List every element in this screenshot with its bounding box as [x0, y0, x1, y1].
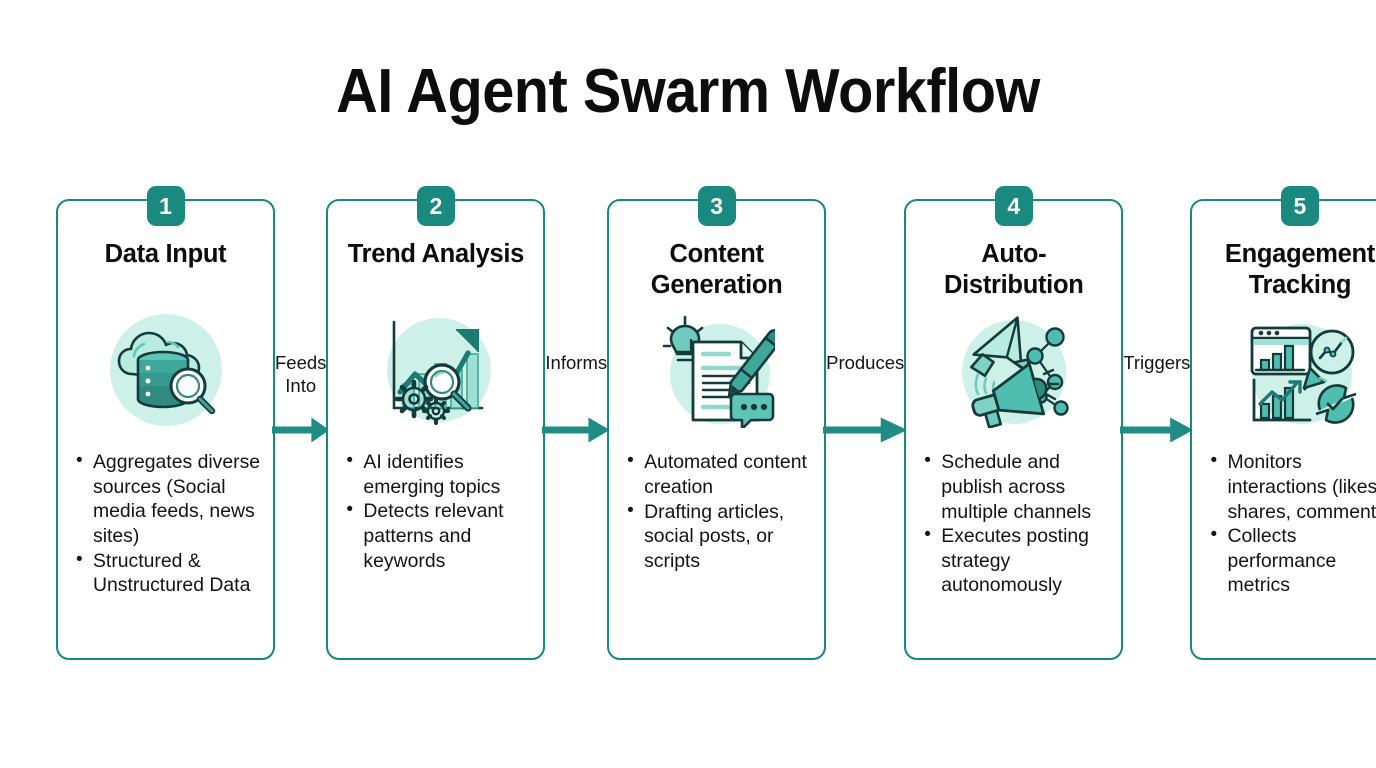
list-item: Detects relevant patterns and keywords	[344, 499, 532, 573]
workflow-diagram: AI Agent Swarm Workflow 1 Data Input	[0, 0, 1376, 768]
list-item: Structured & Unstructured Data	[74, 549, 262, 598]
step-title: Trend Analysis	[348, 239, 524, 301]
list-item: Automated content creation	[625, 450, 813, 499]
step-bullet-list: Aggregates diverse sources (Social media…	[67, 450, 264, 598]
list-item: Monitors interactions (likes, shares, co…	[1208, 450, 1376, 524]
trend-chart-magnifier-gears-icon	[378, 312, 494, 428]
connector-label: Feeds Into	[275, 199, 326, 398]
workflow-steps-row: 1 Data Input	[56, 199, 1321, 660]
step-card-3[interactable]: 3 Content Generation	[607, 199, 826, 660]
step-title: Auto-Distribution	[915, 239, 1112, 301]
page-title: AI Agent Swarm Workflow	[48, 56, 1328, 127]
step-bullet-list: AI identifies emerging topics Detects re…	[337, 450, 534, 573]
connector-label: Informs	[545, 199, 607, 374]
paperplane-megaphone-network-icon	[956, 312, 1072, 428]
connector-1: Feeds Into	[275, 199, 326, 660]
list-item: Executes posting strategy autonomously	[922, 524, 1110, 598]
list-item: Collects performance metrics	[1208, 524, 1376, 598]
step-number-badge: 4	[995, 186, 1033, 226]
step-title: Engagement Tracking	[1201, 239, 1376, 301]
step-bullet-list: Monitors interactions (likes, shares, co…	[1201, 450, 1376, 598]
cloud-database-search-icon	[108, 312, 224, 428]
step-card-1[interactable]: 1 Data Input	[56, 199, 275, 660]
step-title: Data Input	[105, 239, 227, 301]
step-title: Content Generation	[618, 239, 815, 301]
step-card-4[interactable]: 4 Auto-Distribution	[904, 199, 1123, 660]
step-number-badge: 5	[1281, 186, 1319, 226]
step-card-5[interactable]: 5 Engagement Tracking	[1190, 199, 1376, 660]
step-number-badge: 1	[147, 186, 185, 226]
connector-2: Informs	[545, 199, 607, 660]
connector-4: Triggers	[1123, 199, 1190, 660]
arrow-right-icon	[823, 413, 907, 447]
connector-label: Produces	[826, 199, 904, 374]
arrow-right-icon	[542, 413, 610, 447]
dashboard-analytics-refresh-icon	[1242, 312, 1358, 428]
step-number-badge: 3	[698, 186, 736, 226]
list-item: Aggregates diverse sources (Social media…	[74, 450, 262, 549]
step-number-badge: 2	[417, 186, 455, 226]
list-item: Schedule and publish across multiple cha…	[922, 450, 1110, 524]
document-pen-lightbulb-icon	[659, 312, 775, 428]
step-bullet-list: Automated content creation Drafting arti…	[618, 450, 815, 573]
list-item: Drafting articles, social posts, or scri…	[625, 500, 813, 574]
step-bullet-list: Schedule and publish across multiple cha…	[915, 450, 1112, 598]
connector-label: Triggers	[1123, 199, 1190, 374]
arrow-right-icon	[272, 413, 329, 447]
arrow-right-icon	[1120, 413, 1193, 447]
connector-3: Produces	[826, 199, 904, 660]
list-item: AI identifies emerging topics	[344, 450, 532, 499]
step-card-2[interactable]: 2 Trend Analysis	[326, 199, 545, 660]
